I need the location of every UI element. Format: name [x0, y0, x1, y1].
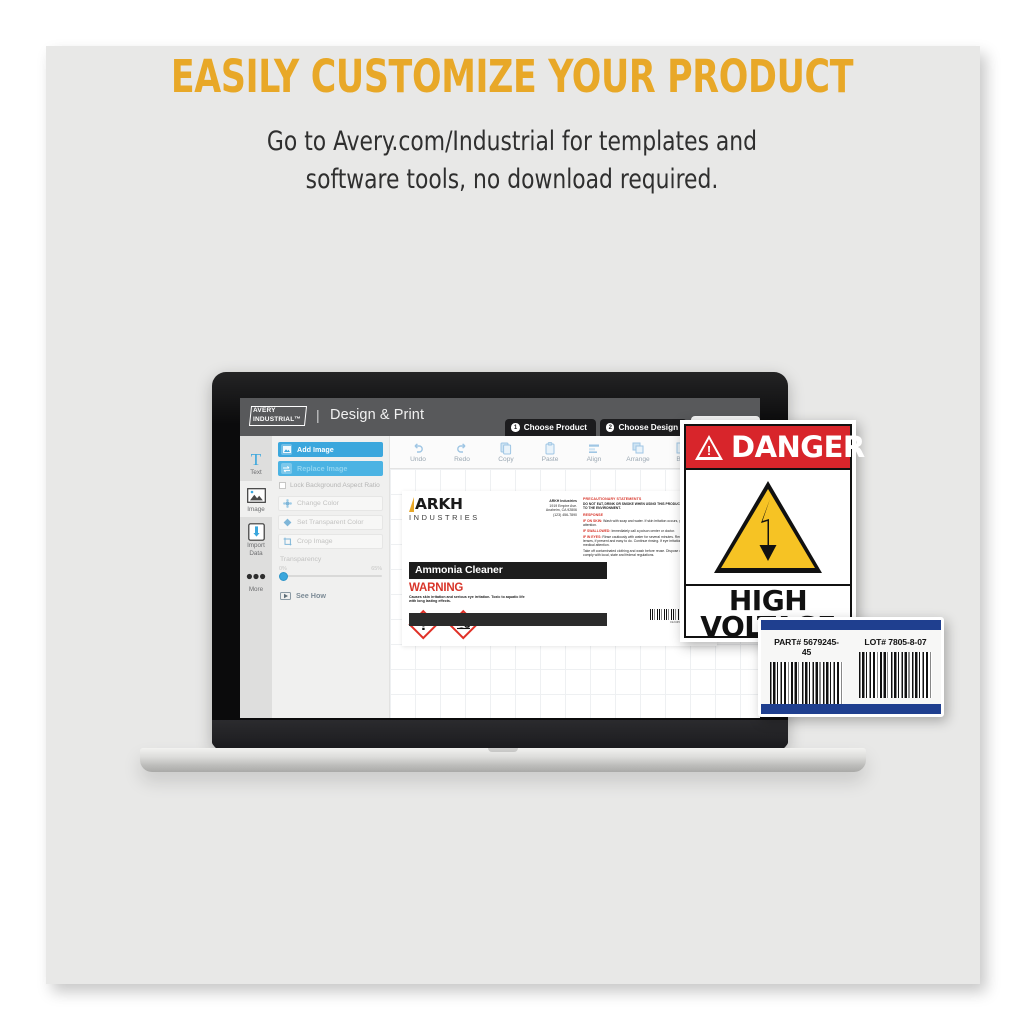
image-icon: [281, 444, 292, 455]
laptop-base: [140, 748, 866, 772]
danger-pictogram-area: [686, 470, 850, 586]
text-tool-icon: T: [240, 449, 272, 469]
rail-item-image[interactable]: Image: [240, 481, 272, 518]
transparent-color-icon: [283, 518, 292, 527]
slider-track: [279, 575, 382, 577]
brand-name: ARKH: [415, 497, 463, 512]
tab-choose-design[interactable]: 2 Choose Design: [600, 419, 687, 436]
exclamation-glyph: !: [695, 444, 723, 457]
toolbar-label: Redo: [454, 456, 470, 463]
rail-item-text[interactable]: T Text: [240, 444, 272, 481]
paste-icon: [544, 442, 556, 455]
tab-label: Choose Product: [524, 423, 587, 432]
transparency-slider[interactable]: 0% 65%: [279, 566, 382, 582]
toolbar-label: Arrange: [626, 456, 649, 463]
logo-line-1: AVERY: [253, 407, 307, 416]
undo-icon: [412, 442, 424, 455]
copy-icon: [500, 442, 512, 455]
add-image-label: Add Image: [297, 445, 334, 454]
tab-choose-product[interactable]: 1 Choose Product: [505, 419, 596, 436]
replace-image-label: Replace Image: [297, 464, 347, 473]
danger-signal-word: DANGER: [731, 430, 865, 464]
label-bottom-border: [761, 704, 941, 714]
crop-icon: [283, 537, 292, 546]
toolbar-label: Copy: [498, 456, 513, 463]
slider-max-label: 65%: [371, 566, 382, 572]
toolbar-button-copy[interactable]: Copy: [484, 442, 528, 463]
label-top-border: [761, 620, 941, 630]
company-phone: (123) 456-7890: [515, 513, 577, 518]
more-tools-icon: [240, 566, 272, 586]
slider-handle[interactable]: [279, 572, 288, 581]
toolbar-button-paste[interactable]: Paste: [528, 442, 572, 463]
barcode-label-content: PART# 5679245-45 LOT# 7805-8-07: [761, 630, 941, 704]
signal-word: WARNING: [409, 582, 607, 594]
tool-rail: T Text Image Import Data More: [240, 436, 272, 718]
toolbar-label: Align: [587, 456, 602, 463]
if-swallowed-keyword: IF SWALLOWED:: [583, 529, 611, 533]
hazard-block: WARNING Causes skin irritation and serio…: [409, 582, 607, 639]
toolbar-button-align[interactable]: Align: [572, 442, 616, 463]
app-name: Design & Print: [330, 407, 424, 423]
laptop-bezel-bottom: [212, 720, 788, 750]
laptop-mockup: AVERY INDUSTRIAL™ | Design & Print 1 Cho…: [0, 0, 1024, 1024]
lock-aspect-label: Lock Background Aspect Ratio: [290, 482, 380, 489]
barcode-columns: PART# 5679245-45 LOT# 7805-8-07: [770, 637, 932, 708]
lot-number-barcode: [859, 652, 932, 698]
label-artwork[interactable]: ARKH INDUSTRIES ARKH Industries 1919 Emp…: [402, 491, 717, 646]
toolbar-button-redo[interactable]: Redo: [440, 442, 484, 463]
align-icon: [588, 442, 601, 455]
tab-label: Choose Design: [618, 423, 678, 432]
toolbar-button-arrange[interactable]: Arrange: [616, 442, 660, 463]
brand-accent-slash: [409, 497, 414, 512]
lightning-bolt-icon: [755, 499, 781, 561]
set-transparent-label: Set Transparent Color: [297, 519, 364, 526]
label-header-row: ARKH INDUSTRIES ARKH Industries 1919 Emp…: [409, 497, 710, 558]
barcode-label: PART# 5679245-45 LOT# 7805-8-07: [758, 617, 944, 717]
toolbar-label: Paste: [542, 456, 559, 463]
transparency-label: Transparency: [280, 556, 383, 563]
high-voltage-icon: [714, 481, 822, 573]
if-swallowed-text: Immediately call a poison center or doct…: [611, 529, 675, 533]
crop-image-label: Crop Image: [297, 538, 333, 545]
set-transparent-color-button[interactable]: Set Transparent Color: [278, 515, 383, 530]
brand-logo: ARKH: [409, 497, 509, 512]
swap-icon: [281, 463, 292, 474]
lot-number-label: LOT# 7805-8-07: [859, 637, 932, 647]
rail-label: Text: [240, 469, 272, 477]
part-number-label: PART# 5679245-45: [770, 637, 843, 657]
hazard-statement: Causes skin irritation and serious eye i…: [409, 595, 529, 604]
part-number-barcode: [770, 662, 843, 708]
lock-aspect-ratio-checkbox[interactable]: Lock Background Aspect Ratio: [279, 482, 383, 489]
color-wheel-icon: [283, 499, 292, 508]
crop-image-button[interactable]: Crop Image: [278, 534, 383, 549]
add-image-button[interactable]: Add Image: [278, 442, 383, 457]
danger-header: ! DANGER: [686, 426, 850, 470]
change-color-button[interactable]: Change Color: [278, 496, 383, 511]
image-tool-icon: [240, 486, 272, 506]
see-how-button[interactable]: See How: [278, 591, 383, 600]
rail-label: Import Data: [240, 542, 272, 557]
label-footer-bar: [409, 613, 607, 626]
company-address: ARKH Industries 1919 Empire Ave. Anaheim…: [515, 497, 577, 558]
svg-text:T: T: [251, 451, 262, 468]
danger-sign-border: ! DANGER HIGH VOLTAGE: [684, 424, 852, 638]
rail-item-import-data[interactable]: Import Data: [240, 517, 272, 561]
rail-item-more[interactable]: More: [240, 561, 272, 598]
redo-icon: [456, 442, 468, 455]
rail-label: More: [240, 586, 272, 594]
import-data-icon: [240, 522, 272, 542]
change-color-label: Change Color: [297, 500, 339, 507]
play-icon: [280, 592, 291, 600]
rail-label: Image: [240, 506, 272, 514]
logo-line-2: INDUSTRIAL™: [253, 416, 307, 425]
lot-number-block: LOT# 7805-8-07: [859, 637, 932, 708]
brand-subtitle: INDUSTRIES: [409, 513, 509, 522]
toolbar-button-undo[interactable]: Undo: [396, 442, 440, 463]
avery-industrial-logo-text: AVERY INDUSTRIAL™: [251, 407, 307, 425]
replace-image-button[interactable]: Replace Image: [278, 461, 383, 476]
header-divider: |: [316, 407, 320, 423]
danger-sign: ! DANGER HIGH VOLTAGE: [680, 420, 856, 642]
see-how-label: See How: [296, 591, 326, 600]
part-number-block: PART# 5679245-45: [770, 637, 843, 708]
toolbar-label: Undo: [410, 456, 426, 463]
checkbox-box: [279, 482, 286, 489]
image-options-panel: Add Image Replace Image Lock Background …: [272, 436, 390, 718]
tab-number: 2: [606, 423, 615, 432]
tab-number: 1: [511, 423, 520, 432]
warning-triangle-icon: !: [695, 435, 723, 460]
brand-block: ARKH INDUSTRIES: [409, 497, 509, 558]
arrange-icon: [632, 442, 644, 455]
product-name-bar: Ammonia Cleaner: [409, 562, 607, 579]
